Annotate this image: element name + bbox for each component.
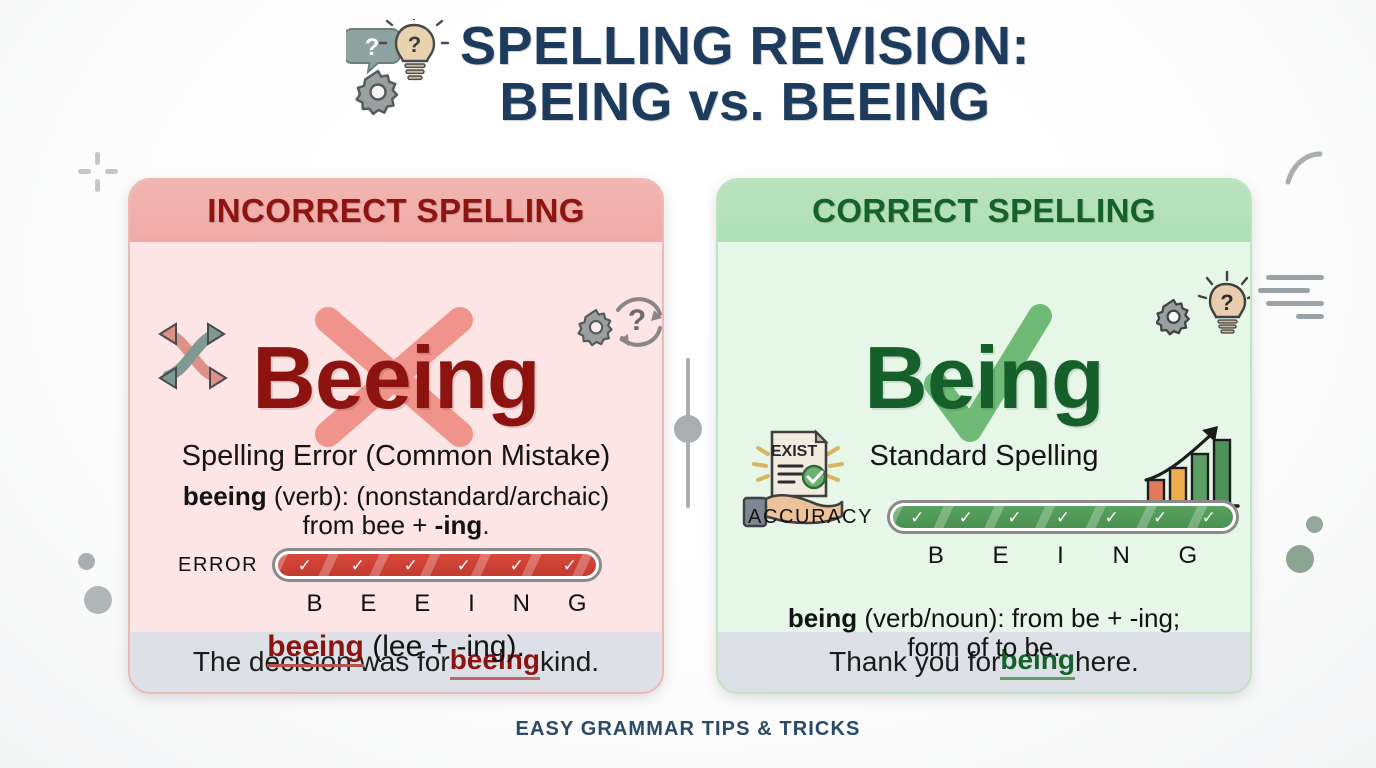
incorrect-card-body: ? Beeing Spelling Error (Common Mistake)… [130,242,662,632]
check-tick-icon: ✓ [1202,509,1216,526]
incorrect-spelling-card: INCORRECT SPELLING [128,178,664,694]
correct-definition-term: being [788,603,857,633]
correct-spelling-card: CORRECT SPELLING ? [716,178,1252,694]
decorative-lines-right [1258,275,1376,331]
decorative-dot-small-left [78,553,95,570]
meter-letter: E [993,542,1010,570]
correct-card-header: CORRECT SPELLING [718,180,1250,242]
incorrect-card-heading: INCORRECT SPELLING [207,192,585,230]
meter-letter: B [928,542,945,570]
check-tick-icon: ✓ [298,557,312,574]
page-header: ? ? [0,18,1376,130]
check-tick-icon: ✓ [1104,509,1118,526]
check-tick-icon: ✓ [563,557,577,574]
meter-letter: B [306,590,323,618]
incorrect-origin-highlight: beeing [267,630,364,667]
meter-letter: G [1179,542,1199,570]
incorrect-origin-detail: (lee + -ing). [364,630,525,663]
error-meter: ✓✓✓✓✓✓ [272,548,602,582]
check-tick-icon: ✓ [1007,509,1021,526]
correct-word: Being [718,334,1250,422]
decorative-arc-icon [1284,150,1328,186]
meter-letter: G [568,590,588,618]
error-meter-group: ERROR ✓✓✓✓✓✓ [178,548,602,582]
incorrect-word: Beeing [130,334,662,422]
meter-letter: E [414,590,431,618]
check-tick-icon: ✓ [457,557,471,574]
meter-letter: I [468,590,476,618]
accuracy-meter-letters: BEING [904,542,1222,570]
meter-letter: E [360,590,377,618]
decorative-dot-small-right [1306,516,1323,533]
meter-letter: N [513,590,531,618]
correct-card-heading: CORRECT SPELLING [812,192,1156,230]
svg-text:?: ? [365,34,380,61]
incorrect-subtitle: Spelling Error (Common Mistake) [130,440,662,473]
incorrect-definition-term: beeing [183,481,267,511]
correct-definition-rest: (verb/noun): from be + -ing; [857,603,1180,633]
center-divider-knob [674,415,702,443]
title-line-1: SPELLING REVISION: [460,16,1030,76]
accuracy-meter: ✓✓✓✓✓✓✓ [887,500,1239,534]
incorrect-card-header: INCORRECT SPELLING [130,180,662,242]
decorative-dot-large-left [84,586,112,614]
error-meter-fill: ✓✓✓✓✓✓ [278,554,596,576]
correct-card-body: ? Being Standard Spelling [718,242,1250,632]
accuracy-meter-label: ACCURACY [748,506,873,529]
header-icon-cluster: ? ? [346,19,450,123]
infographic-canvas: ? ? [0,0,1376,768]
title-line-2: BEING vs. BEEING [460,74,1030,130]
svg-text:?: ? [408,32,421,57]
check-tick-icon: ✓ [404,557,418,574]
meter-letter: I [1057,542,1065,570]
accuracy-meter-fill: ✓✓✓✓✓✓✓ [893,506,1233,528]
correct-definition: being (verb/noun): from be + -ing; form … [718,604,1250,662]
decorative-dot-large-right [1286,545,1314,573]
check-tick-icon: ✓ [1056,509,1070,526]
incorrect-origin-line: beeing (lee + -ing). [130,630,662,664]
meter-letter: N [1113,542,1131,570]
plus-decoration-icon [78,152,118,192]
incorrect-origin-suffix: -ing [435,510,483,540]
gear-icon [357,71,397,114]
error-meter-label: ERROR [178,554,258,577]
accuracy-meter-group: ACCURACY ✓✓✓✓✓✓✓ [748,500,1239,534]
check-tick-icon: ✓ [959,509,973,526]
page-title: SPELLING REVISION: BEING vs. BEEING [460,18,1030,130]
incorrect-origin-post: . [482,510,489,540]
document-label: EXIST [771,443,817,460]
correct-definition-line2: form of to be. [907,632,1060,662]
check-tick-icon: ✓ [910,509,924,526]
incorrect-definition: beeing (verb): (nonstandard/archaic) fro… [130,482,662,540]
incorrect-definition-rest: (verb): (nonstandard/archaic) [267,481,609,511]
check-tick-icon: ✓ [1153,509,1167,526]
check-tick-icon: ✓ [351,557,365,574]
incorrect-origin-pre: from bee + [302,510,434,540]
error-meter-letters: BEEING [288,590,606,618]
speech-bubble-question-icon: ? [346,29,400,72]
brand-footer: EASY GRAMMAR TIPS & TRICKS [0,718,1376,741]
check-tick-icon: ✓ [510,557,524,574]
